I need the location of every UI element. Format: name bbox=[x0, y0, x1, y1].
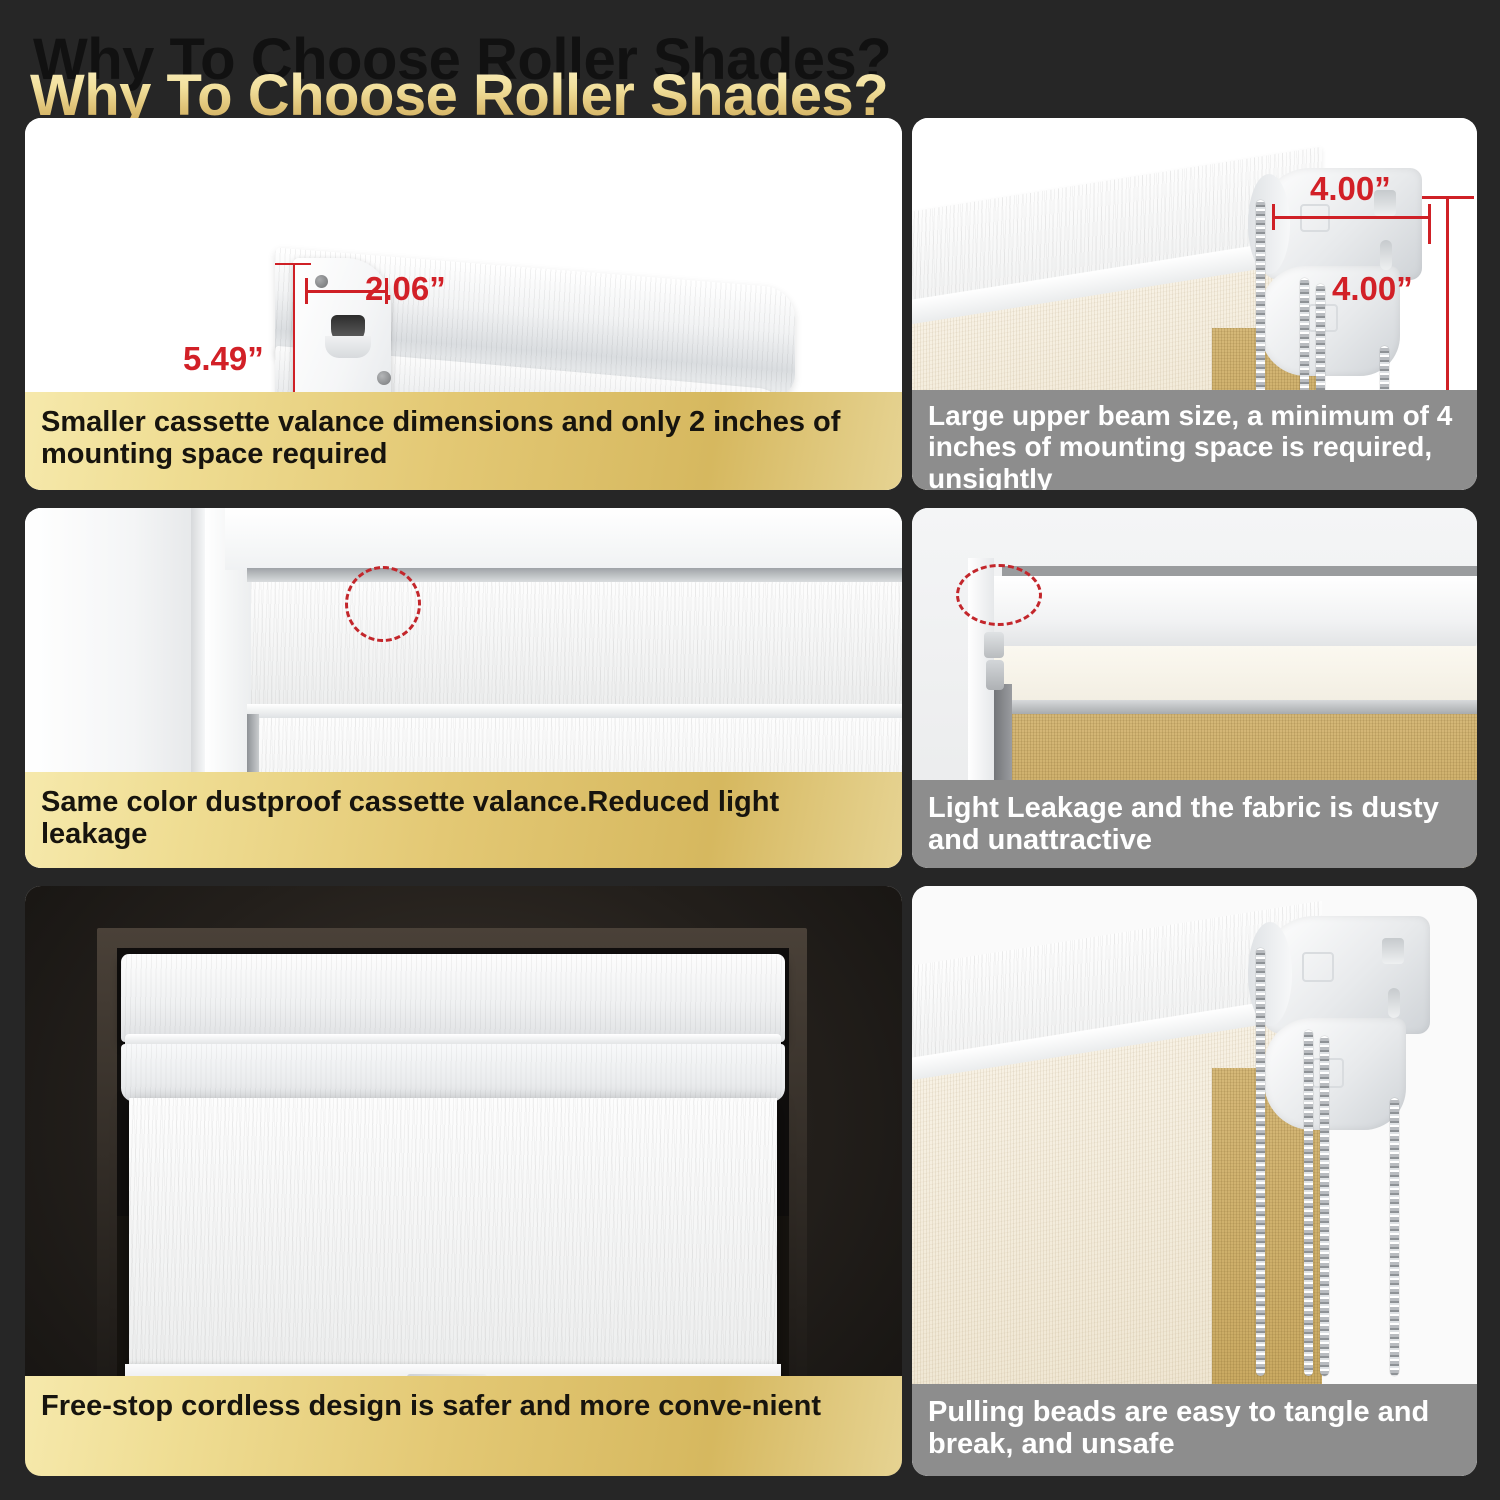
panel-caption-light-leakage: Light Leakage and the fabric is dusty an… bbox=[912, 780, 1477, 868]
panel-caption-cassette-dimensions: Smaller cassette valance dimensions and … bbox=[25, 392, 902, 490]
bead-chain bbox=[1304, 1030, 1313, 1376]
panel-cassette-dimensions: 5.49” 2.06” Smaller cassette valance dim… bbox=[25, 118, 902, 490]
highlight-circle bbox=[956, 564, 1042, 626]
panel-caption-dustproof-valance: Same color dustproof cassette valance.Re… bbox=[25, 772, 902, 868]
panel-pulling-beads: Pulling beads are easy to tangle and bre… bbox=[912, 886, 1477, 1476]
beam-height-label: 4.00” bbox=[1332, 270, 1413, 308]
height-dimension-label: 5.49” bbox=[183, 340, 264, 378]
bead-chain bbox=[1390, 1098, 1399, 1376]
panel-caption-large-upper-beam: Large upper beam size, a minimum of 4 in… bbox=[912, 390, 1477, 490]
panel-cordless-design: Free-stop cordless design is safer and m… bbox=[25, 886, 902, 1476]
panel-light-leakage: Large gap Light Leakage and the fabric i… bbox=[912, 508, 1477, 868]
panel-caption-pulling-beads: Pulling beads are easy to tangle and bre… bbox=[912, 1384, 1477, 1476]
bead-chain bbox=[1320, 1036, 1329, 1376]
beam-width-label: 4.00” bbox=[1310, 170, 1391, 208]
roller-shade-fabric bbox=[129, 1098, 777, 1380]
panel-large-upper-beam: 4.00” 4.00” Large upper beam size, a min… bbox=[912, 118, 1477, 490]
bead-chain bbox=[1256, 948, 1265, 1376]
panel-caption-cordless-design: Free-stop cordless design is safer and m… bbox=[25, 1376, 902, 1476]
width-dimension-label: 2.06” bbox=[365, 270, 446, 308]
highlight-circle bbox=[345, 566, 421, 642]
panel-dustproof-valance: smaller gap Same color dustproof cassett… bbox=[25, 508, 902, 868]
